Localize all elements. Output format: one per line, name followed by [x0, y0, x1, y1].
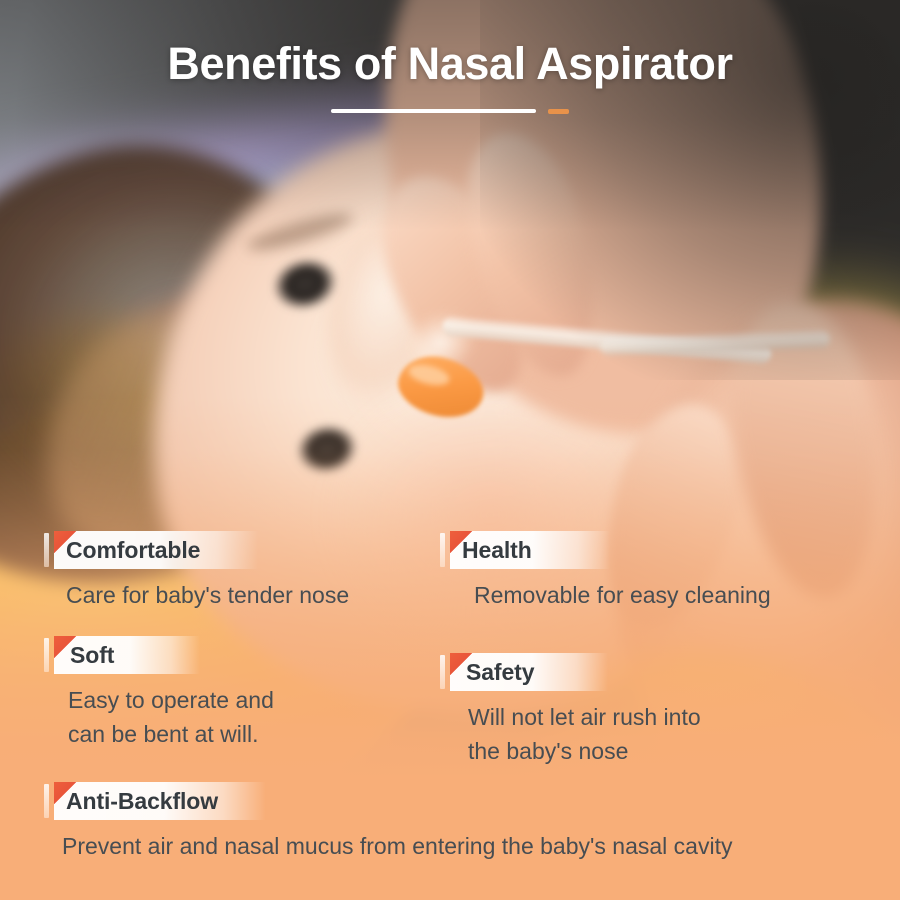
- feature-tag-comfortable: Comfortable: [44, 531, 258, 569]
- feature-description-line: the baby's nose: [468, 734, 701, 768]
- feature-tag-label: Anti-Backflow: [54, 788, 218, 815]
- feature-item-safety: Safety Will not let air rush into the ba…: [440, 653, 701, 768]
- feature-description-line: Removable for easy cleaning: [474, 578, 771, 612]
- feature-description-safety: Will not let air rush into the baby's no…: [440, 700, 701, 768]
- feature-description-line: Easy to operate and: [68, 683, 274, 717]
- feature-tag-health: Health: [440, 531, 610, 569]
- feature-tag-label: Soft: [54, 642, 114, 669]
- feature-tag-anti-backflow: Anti-Backflow: [44, 782, 266, 820]
- feature-description-anti-backflow: Prevent air and nasal mucus from enterin…: [44, 829, 732, 863]
- feature-description-soft: Easy to operate and can be bent at will.: [44, 683, 274, 751]
- feature-tag-safety: Safety: [440, 653, 608, 691]
- feature-description-line: can be bent at will.: [68, 717, 274, 751]
- feature-description-comfortable: Care for baby's tender nose: [44, 578, 349, 612]
- feature-item-anti-backflow: Anti-Backflow Prevent air and nasal mucu…: [44, 782, 732, 863]
- feature-item-health: Health Removable for easy cleaning: [440, 531, 771, 612]
- feature-description-line: Prevent air and nasal mucus from enterin…: [62, 829, 732, 863]
- feature-list: Comfortable Care for baby's tender nose …: [0, 0, 900, 900]
- feature-tag-label: Comfortable: [54, 537, 200, 564]
- feature-tag-soft: Soft: [44, 636, 200, 674]
- feature-item-comfortable: Comfortable Care for baby's tender nose: [44, 531, 349, 612]
- feature-tag-label: Safety: [450, 659, 534, 686]
- feature-tag-label: Health: [450, 537, 532, 564]
- feature-description-line: Care for baby's tender nose: [66, 578, 349, 612]
- feature-description-health: Removable for easy cleaning: [440, 578, 771, 612]
- feature-item-soft: Soft Easy to operate and can be bent at …: [44, 636, 274, 751]
- feature-description-line: Will not let air rush into: [468, 700, 701, 734]
- infographic-poster: Benefits of Nasal Aspirator Comfortable …: [0, 0, 900, 900]
